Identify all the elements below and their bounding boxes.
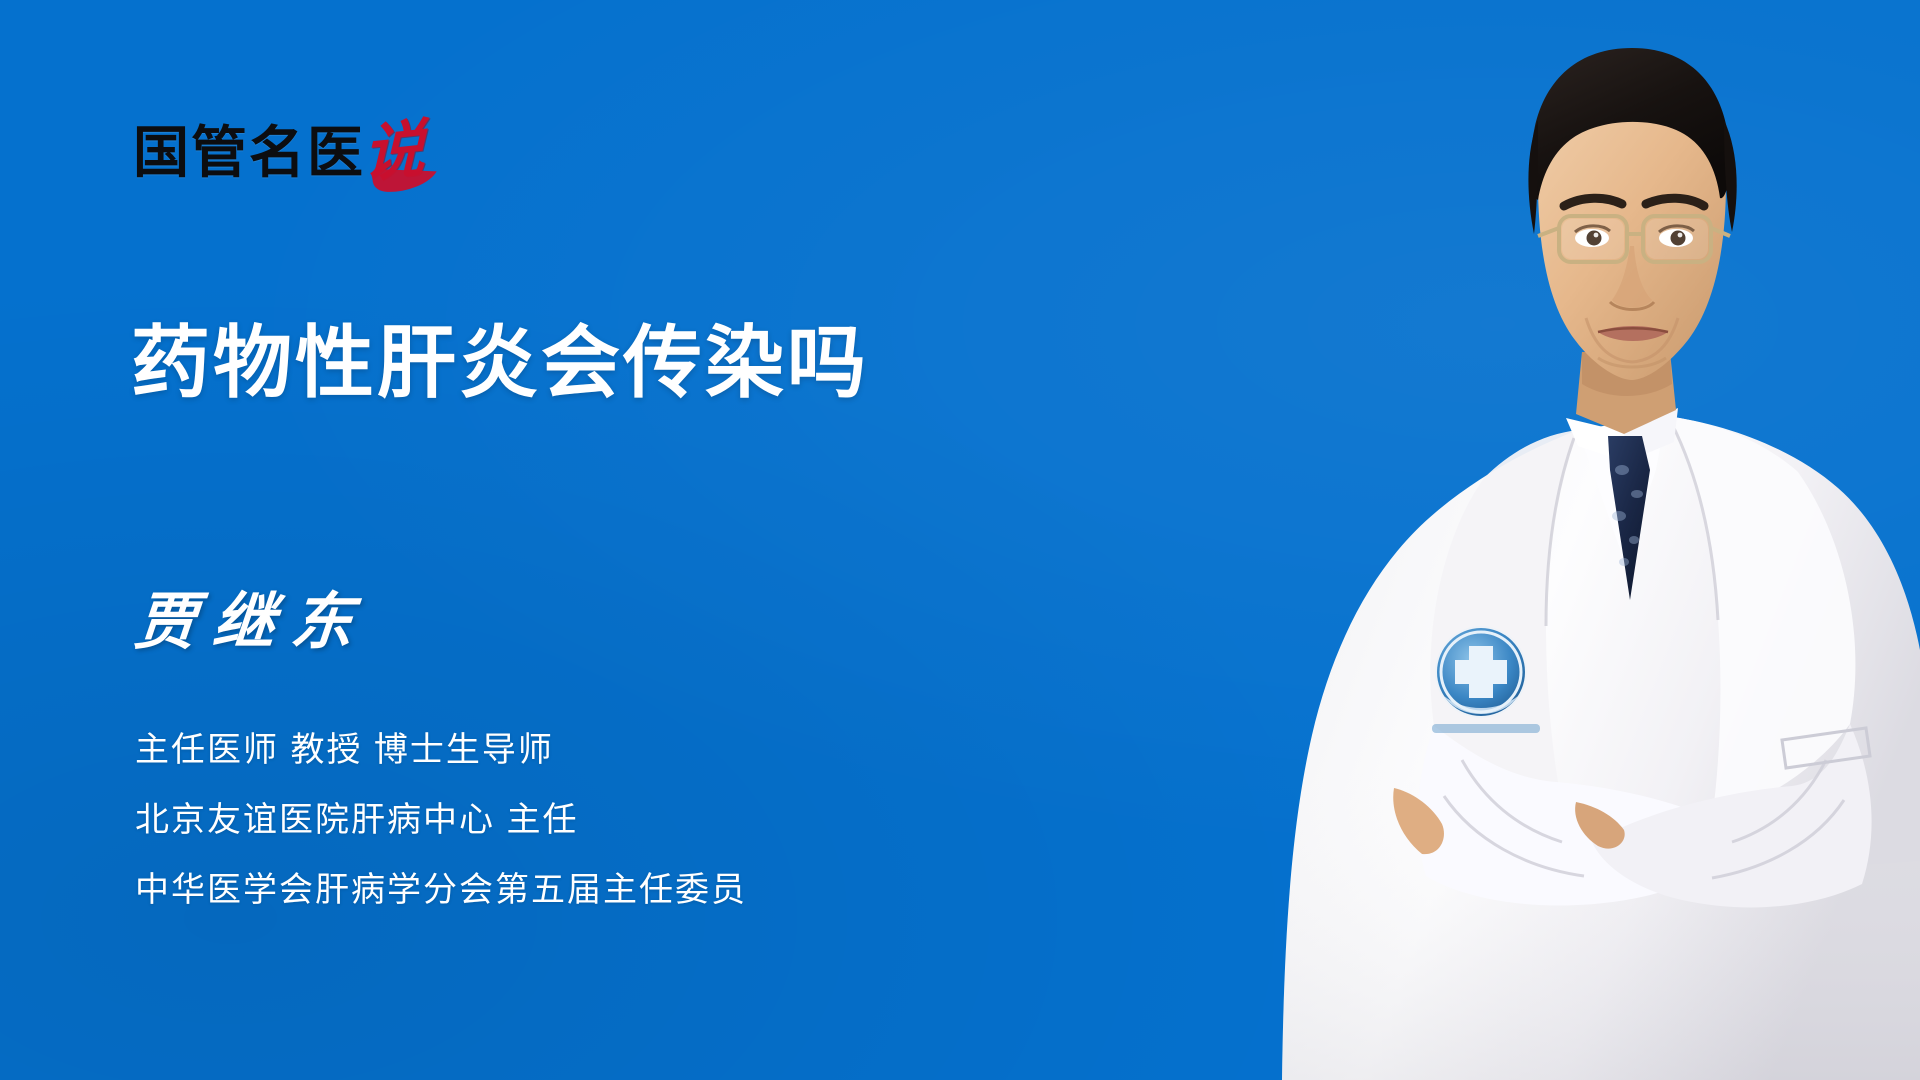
headline-title: 药物性肝炎会传染吗 <box>131 320 869 406</box>
doctor-name: 贾继东 <box>132 586 372 658</box>
credential-line-3: 中华医学会肝病学分会第五届主任委员 <box>135 870 747 910</box>
poster-canvas: 国管名医 说 药物性肝炎会传染吗 贾继东 主任医师 教授 博士生导师 北京友谊医… <box>0 0 1920 1080</box>
doctor-portrait <box>1226 0 1920 1080</box>
doctor-credentials: 主任医师 教授 博士生导师 北京友谊医院肝病中心 主任 中华医学会肝病学分会第五… <box>135 730 747 910</box>
program-logo: 国管名医 说 <box>133 107 425 183</box>
logo-main-text: 国管名医 <box>133 125 365 183</box>
logo-accent-text: 说 <box>363 120 425 183</box>
credential-line-2: 北京友谊医院肝病中心 主任 <box>135 800 747 840</box>
credential-line-1: 主任医师 教授 博士生导师 <box>135 730 747 770</box>
